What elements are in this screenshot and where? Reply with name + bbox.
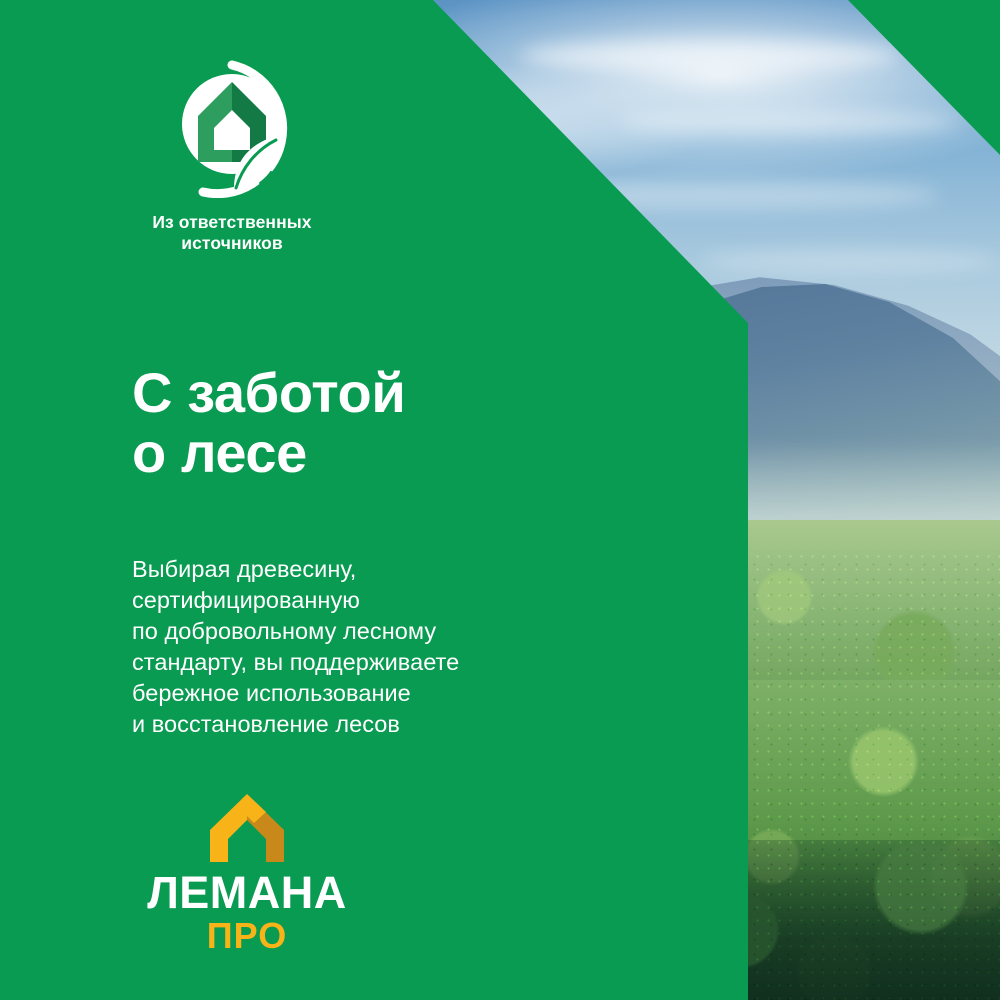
responsible-sources-badge: Из ответственных источников [132,58,332,255]
lemana-house-icon [208,792,286,864]
body-paragraph: Выбирая древесину, сертифицированную по … [132,554,692,740]
page-title: С заботой о лесе [132,363,692,484]
poster-root: Из ответственных источников С заботой о … [0,0,1000,1000]
brand-name: ЛЕМАНА [132,870,362,915]
responsible-sources-emblem [162,58,302,198]
brand-lockup: ЛЕМАНА ПРО [132,792,362,955]
poster-content: Из ответственных источников С заботой о … [0,0,1000,1000]
brand-subname: ПРО [132,917,362,955]
responsible-sources-caption: Из ответственных источников [132,212,332,255]
